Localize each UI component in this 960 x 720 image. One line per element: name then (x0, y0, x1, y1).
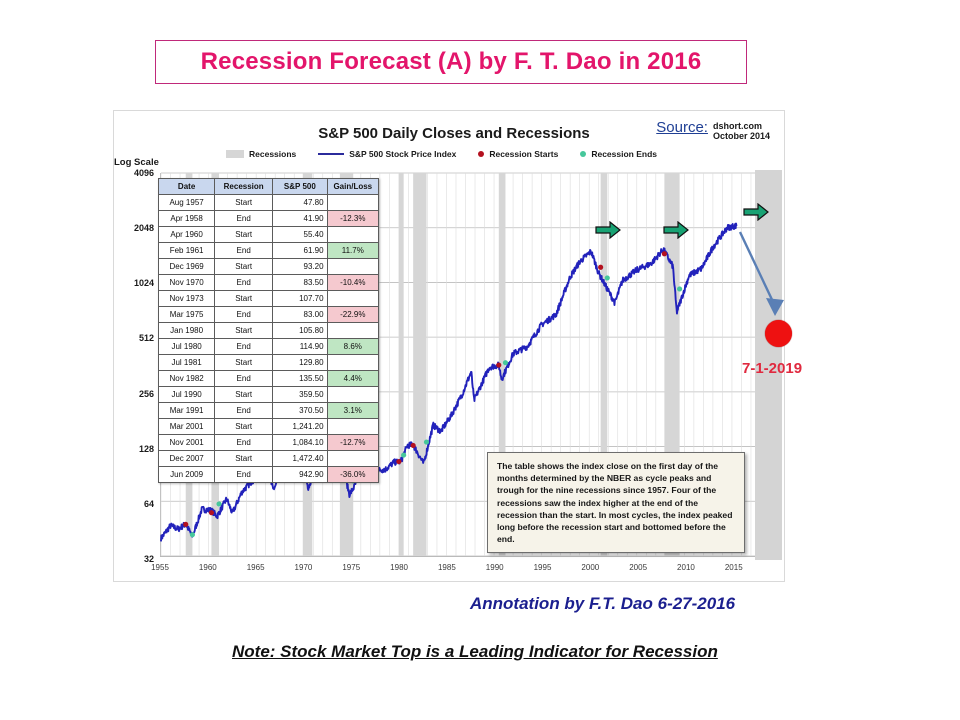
table-row: Dec 1969Start93.20 (159, 259, 379, 275)
table-row: Nov 2001End1,084.10-12.7% (159, 435, 379, 451)
recession-band (399, 173, 404, 556)
cell-sp500: 359.50 (273, 387, 327, 403)
y-tick-label: 4096 (134, 168, 154, 178)
recession-start-marker (396, 459, 401, 464)
cell-date: Apr 1960 (159, 227, 215, 243)
cell-sp500: 1,472.40 (273, 451, 327, 467)
table-row: Mar 1975End83.00-22.9% (159, 307, 379, 323)
y-axis-labels: 4096204810245122561286432 (114, 111, 158, 581)
cell-date: Dec 2007 (159, 451, 215, 467)
table-row: Aug 1957Start47.80 (159, 195, 379, 211)
table-row: Nov 1973Start107.70 (159, 291, 379, 307)
cell-gainloss: 11.7% (327, 243, 378, 259)
cell-sp500: 942.90 (273, 467, 327, 483)
legend-item-recession-starts: Recession Starts (478, 149, 558, 159)
recession-end-marker (605, 275, 610, 280)
legend-item-recessions: Recessions (226, 149, 296, 159)
y-tick-label: 2048 (134, 223, 154, 233)
legend-label-recession-starts: Recession Starts (489, 149, 558, 159)
recession-data-table: Date Recession S&P 500 Gain/Loss Aug 195… (158, 178, 379, 483)
x-tick-label: 1955 (151, 563, 169, 572)
cell-gainloss: 3.1% (327, 403, 378, 419)
cell-gainloss: -12.3% (327, 211, 378, 227)
green-arrow-icon-2 (663, 221, 689, 239)
cell-sp500: 47.80 (273, 195, 327, 211)
chart-title: S&P 500 Daily Closes and Recessions (284, 125, 624, 142)
cell-gainloss (327, 195, 378, 211)
cell-gainloss (327, 323, 378, 339)
cell-recession: Start (215, 419, 273, 435)
x-tick-label: 1965 (247, 563, 265, 572)
cell-sp500: 114.90 (273, 339, 327, 355)
cell-date: Mar 1975 (159, 307, 215, 323)
recession-start-marker (183, 522, 188, 527)
cell-gainloss: -36.0% (327, 467, 378, 483)
recession-band-swatch-icon (226, 150, 244, 158)
cell-sp500: 129.80 (273, 355, 327, 371)
cell-date: Nov 2001 (159, 435, 215, 451)
recession-start-dot-icon (478, 151, 484, 157)
cell-gainloss: -12.7% (327, 435, 378, 451)
x-tick-label: 1960 (199, 563, 217, 572)
legend-label-recessions: Recessions (249, 149, 296, 159)
table-row: Apr 1958End41.90-12.3% (159, 211, 379, 227)
cell-gainloss: -10.4% (327, 275, 378, 291)
cell-sp500: 107.70 (273, 291, 327, 307)
cell-gainloss (327, 451, 378, 467)
cell-date: Apr 1958 (159, 211, 215, 227)
cell-gainloss: 8.6% (327, 339, 378, 355)
cell-recession: Start (215, 355, 273, 371)
cell-date: Nov 1982 (159, 371, 215, 387)
cell-date: Aug 1957 (159, 195, 215, 211)
x-tick-label: 1985 (438, 563, 456, 572)
cell-recession: Start (215, 291, 273, 307)
cell-sp500: 105.80 (273, 323, 327, 339)
cell-sp500: 55.40 (273, 227, 327, 243)
legend-label-recession-ends: Recession Ends (591, 149, 657, 159)
cell-sp500: 93.20 (273, 259, 327, 275)
cell-date: Mar 2001 (159, 419, 215, 435)
y-tick-label: 1024 (134, 278, 154, 288)
x-tick-label: 1970 (295, 563, 313, 572)
table-row: Nov 1970End83.50-10.4% (159, 275, 379, 291)
cell-sp500: 41.90 (273, 211, 327, 227)
x-tick-label: 1990 (486, 563, 504, 572)
legend-item-recession-ends: Recession Ends (580, 149, 657, 159)
y-tick-label: 256 (139, 389, 154, 399)
recession-end-marker (401, 453, 406, 458)
cell-gainloss: -22.9% (327, 307, 378, 323)
forecast-date-label: 7-1-2019 (742, 360, 802, 377)
column-header-gainloss: Gain/Loss (327, 179, 378, 195)
cell-date: Jul 1990 (159, 387, 215, 403)
column-header-date: Date (159, 179, 215, 195)
table-row: Jun 2009End942.90-36.0% (159, 467, 379, 483)
slide-title-box: Recession Forecast (A) by F. T. Dao in 2… (155, 40, 747, 84)
recession-start-marker (598, 265, 603, 270)
cell-recession: Start (215, 227, 273, 243)
x-tick-label: 2010 (677, 563, 695, 572)
column-header-recession: Recession (215, 179, 273, 195)
table-header-row: Date Recession S&P 500 Gain/Loss (159, 179, 379, 195)
x-tick-label: 1995 (534, 563, 552, 572)
x-tick-label: 2000 (581, 563, 599, 572)
source-name: dshort.com (713, 121, 770, 131)
recession-end-marker (503, 360, 508, 365)
table-row: Jul 1980End114.908.6% (159, 339, 379, 355)
table-row: Nov 1982End135.504.4% (159, 371, 379, 387)
recession-start-marker (411, 443, 416, 448)
table-row: Mar 1991End370.503.1% (159, 403, 379, 419)
y-tick-label: 512 (139, 333, 154, 343)
cell-gainloss (327, 387, 378, 403)
cell-sp500: 83.00 (273, 307, 327, 323)
cell-recession: End (215, 403, 273, 419)
green-arrow-icon-1 (595, 221, 621, 239)
cell-sp500: 370.50 (273, 403, 327, 419)
cell-recession: End (215, 307, 273, 323)
cell-recession: Start (215, 387, 273, 403)
recession-end-marker (424, 439, 429, 444)
source-label: Source: (656, 119, 708, 136)
page-title: Recession Forecast (A) by F. T. Dao in 2… (201, 48, 702, 76)
table-row: Jan 1980Start105.80 (159, 323, 379, 339)
x-tick-label: 1980 (390, 563, 408, 572)
cell-date: Jan 1980 (159, 323, 215, 339)
cell-date: Mar 1991 (159, 403, 215, 419)
table-row: Dec 2007Start1,472.40 (159, 451, 379, 467)
line-swatch-icon (318, 153, 344, 155)
cell-recession: End (215, 435, 273, 451)
x-tick-label: 1975 (342, 563, 360, 572)
cell-gainloss (327, 355, 378, 371)
bottom-note: Note: Stock Market Top is a Leading Indi… (232, 642, 718, 662)
chart-legend: Recessions S&P 500 Stock Price Index Rec… (226, 149, 657, 159)
column-header-sp500: S&P 500 (273, 179, 327, 195)
cell-gainloss (327, 259, 378, 275)
cell-recession: Start (215, 195, 273, 211)
cell-sp500: 61.90 (273, 243, 327, 259)
cell-date: Jul 1981 (159, 355, 215, 371)
cell-sp500: 135.50 (273, 371, 327, 387)
recession-start-marker (209, 510, 214, 515)
table-row: Jul 1990Start359.50 (159, 387, 379, 403)
chart-source: Source: dshort.com October 2014 (656, 119, 770, 142)
x-axis-labels: 1955196019651970197519801985199019952000… (114, 559, 784, 581)
cell-gainloss: 4.4% (327, 371, 378, 387)
table-row: Apr 1960Start55.40 (159, 227, 379, 243)
cell-date: Nov 1970 (159, 275, 215, 291)
y-tick-label: 64 (144, 499, 154, 509)
green-arrow-icon-3 (743, 203, 769, 221)
legend-item-sp500: S&P 500 Stock Price Index (318, 149, 456, 159)
cell-date: Dec 1969 (159, 259, 215, 275)
x-tick-label: 2015 (725, 563, 743, 572)
recession-end-marker (216, 501, 221, 506)
x-tick-label: 2005 (629, 563, 647, 572)
recession-start-marker (496, 362, 501, 367)
forecast-point-marker (765, 320, 792, 347)
legend-label-sp500: S&P 500 Stock Price Index (349, 149, 456, 159)
recession-band (413, 173, 426, 556)
recession-end-marker (190, 532, 195, 537)
cell-date: Jul 1980 (159, 339, 215, 355)
cell-recession: Start (215, 451, 273, 467)
cell-recession: End (215, 339, 273, 355)
cell-gainloss (327, 291, 378, 307)
cell-sp500: 83.50 (273, 275, 327, 291)
recession-end-marker (677, 286, 682, 291)
cell-gainloss (327, 227, 378, 243)
cell-recession: End (215, 467, 273, 483)
table-row: Feb 1961End61.9011.7% (159, 243, 379, 259)
decline-forecast-arrow-icon (735, 228, 795, 323)
source-date: October 2014 (713, 131, 770, 141)
cell-sp500: 1,084.10 (273, 435, 327, 451)
y-tick-label: 128 (139, 444, 154, 454)
cell-gainloss (327, 419, 378, 435)
recession-end-dot-icon (580, 151, 586, 157)
cell-date: Feb 1961 (159, 243, 215, 259)
table-row: Mar 2001Start1,241.20 (159, 419, 379, 435)
annotation-byline: Annotation by F.T. Dao 6-27-2016 (470, 594, 735, 614)
chart-note-box: The table shows the index close on the f… (487, 452, 745, 553)
cell-recession: End (215, 243, 273, 259)
cell-recession: End (215, 211, 273, 227)
table-row: Jul 1981Start129.80 (159, 355, 379, 371)
cell-date: Jun 2009 (159, 467, 215, 483)
cell-recession: Start (215, 259, 273, 275)
cell-sp500: 1,241.20 (273, 419, 327, 435)
recession-start-marker (662, 251, 667, 256)
chart-note-text: The table shows the index close on the f… (497, 460, 735, 545)
cell-recession: End (215, 371, 273, 387)
cell-recession: End (215, 275, 273, 291)
cell-date: Nov 1973 (159, 291, 215, 307)
cell-recession: Start (215, 323, 273, 339)
